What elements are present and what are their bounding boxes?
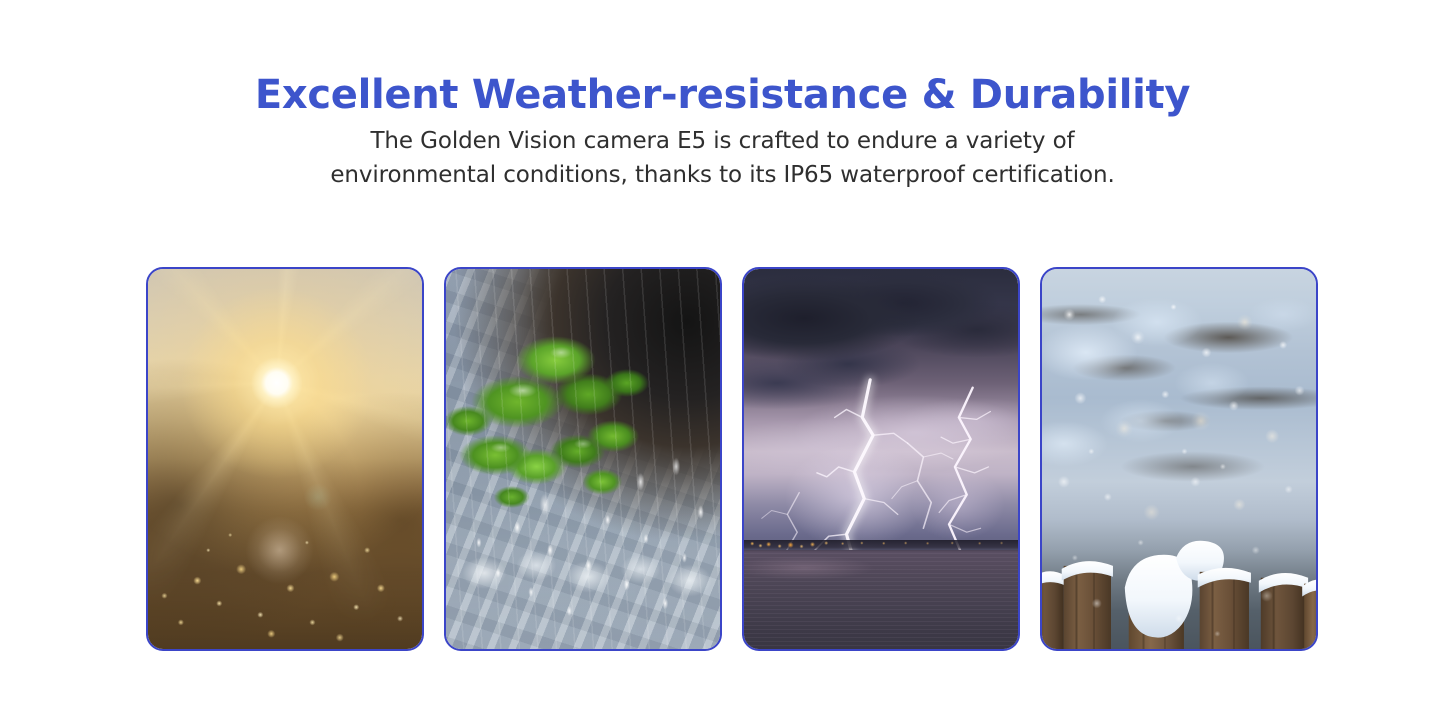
weather-card-rain [444,267,722,651]
rain-photo [446,269,720,649]
water-glint-layer [744,550,1018,649]
sun-photo [148,269,422,649]
page-subtitle: The Golden Vision camera E5 is crafted t… [273,124,1173,192]
header: Excellent Weather-resistance & Durabilit… [0,0,1445,192]
page-subtitle-line-1: The Golden Vision camera E5 is crafted t… [273,124,1173,158]
snow-photo [1042,269,1316,649]
page-title: Excellent Weather-resistance & Durabilit… [0,72,1445,118]
city-lights-layer [744,538,1018,552]
weather-card-lightning [742,267,1020,651]
weather-durability-page: Excellent Weather-resistance & Durabilit… [0,0,1445,714]
weather-card-sun [146,267,424,651]
rain-droplets-layer [446,269,720,649]
weather-image-gallery [146,267,1314,651]
weather-card-snow [1040,267,1318,651]
page-subtitle-line-2: environmental conditions, thanks to its … [273,158,1173,192]
snow-foreground-bokeh-layer [1042,269,1316,649]
sun-lensflare-layer [148,269,422,649]
lightning-photo [744,269,1018,649]
